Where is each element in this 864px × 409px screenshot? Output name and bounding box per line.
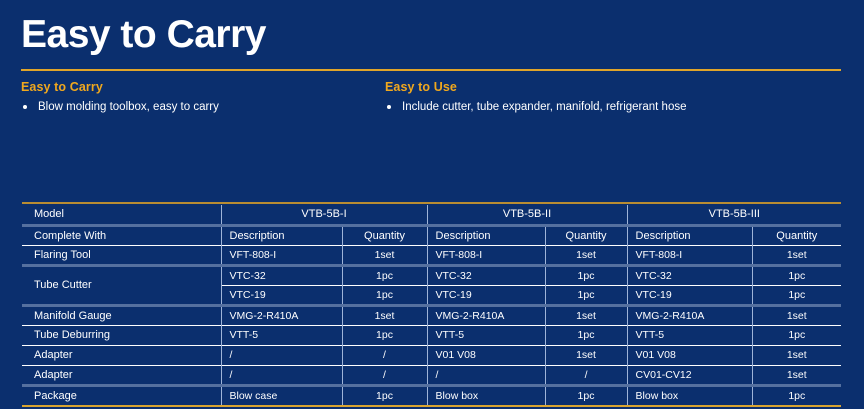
feature-heading-2: Easy to Use — [385, 80, 730, 94]
table-row: Tube Deburring VTT-5 1pc VTT-5 1pc VTT-5… — [22, 325, 841, 345]
feature-item: Blow molding toolbox, easy to carry — [21, 100, 366, 115]
feature-columns: Easy to Carry Blow molding toolbox, easy… — [21, 80, 841, 115]
row-cell: 1set — [545, 245, 627, 265]
row-cell: 1set — [342, 305, 427, 325]
feature-list-2: Include cutter, tube expander, manifold,… — [385, 100, 730, 115]
table-row-subheader: Complete With Description Quantity Descr… — [22, 225, 841, 245]
slide-page: Easy to Carry Easy to Carry Blow molding… — [0, 0, 864, 409]
feature-item: Include cutter, tube expander, manifold,… — [385, 100, 730, 115]
row-cell: 1set — [752, 245, 841, 265]
row-cell: 1set — [545, 345, 627, 365]
spec-table-wrapper: Model VTB-5B-I VTB-5B-II VTB-5B-III Comp… — [22, 205, 841, 405]
row-label: Adapter — [22, 345, 221, 365]
feature-list-1: Blow molding toolbox, easy to carry — [21, 100, 366, 115]
row-cell: / — [427, 365, 545, 385]
row-cell: 1pc — [545, 265, 627, 285]
table-top-rule — [22, 202, 841, 204]
row-cell: 1pc — [342, 265, 427, 285]
row-cell: VMG-2-R410A — [627, 305, 752, 325]
cell-subheader-description-1: Description — [221, 225, 342, 245]
row-label: Adapter — [22, 365, 221, 385]
cell-model-1: VTB-5B-I — [221, 205, 427, 225]
table-bottom-rule — [22, 405, 841, 407]
row-cell: 1pc — [342, 325, 427, 345]
feature-column-1: Easy to Carry Blow molding toolbox, easy… — [21, 80, 366, 115]
row-cell: VTC-32 — [627, 265, 752, 285]
row-cell: 1pc — [752, 285, 841, 305]
table-row: Flaring Tool VFT-808-I 1set VFT-808-I 1s… — [22, 245, 841, 265]
row-cell: VTC-19 — [627, 285, 752, 305]
feature-heading-1: Easy to Carry — [21, 80, 366, 94]
cell-model-label: Model — [22, 205, 221, 225]
row-label: Tube Deburring — [22, 325, 221, 345]
table-row: Adapter / / / / CV01-CV12 1set — [22, 365, 841, 385]
table-row: Tube Cutter VTC-32 1pc VTC-32 1pc VTC-32… — [22, 265, 841, 285]
row-cell: VFT-808-I — [221, 245, 342, 265]
table-row: Manifold Gauge VMG-2-R410A 1set VMG-2-R4… — [22, 305, 841, 325]
feature-column-2: Easy to Use Include cutter, tube expande… — [385, 80, 730, 115]
row-cell: VTT-5 — [627, 325, 752, 345]
row-cell: 1set — [752, 365, 841, 385]
row-cell: 1pc — [752, 385, 841, 405]
cell-subheader-quantity-2: Quantity — [545, 225, 627, 245]
row-cell: V01 V08 — [427, 345, 545, 365]
cell-subheader-description-3: Description — [627, 225, 752, 245]
row-cell: 1set — [545, 305, 627, 325]
row-cell: CV01-CV12 — [627, 365, 752, 385]
table-row: Package Blow case 1pc Blow box 1pc Blow … — [22, 385, 841, 405]
row-cell: Blow case — [221, 385, 342, 405]
row-cell: 1pc — [752, 265, 841, 285]
row-cell: / — [545, 365, 627, 385]
title-divider — [21, 69, 841, 71]
spec-table: Model VTB-5B-I VTB-5B-II VTB-5B-III Comp… — [22, 205, 841, 405]
row-cell: 1pc — [342, 285, 427, 305]
row-cell: / — [342, 365, 427, 385]
row-cell: VTC-32 — [221, 265, 342, 285]
row-cell: 1set — [752, 305, 841, 325]
row-cell: V01 V08 — [627, 345, 752, 365]
row-label: Tube Cutter — [22, 265, 221, 305]
row-cell: 1set — [342, 245, 427, 265]
row-cell: 1pc — [752, 325, 841, 345]
row-cell: Blow box — [427, 385, 545, 405]
cell-complete-with-label: Complete With — [22, 225, 221, 245]
row-cell: Blow box — [627, 385, 752, 405]
row-cell: / — [221, 365, 342, 385]
row-cell: 1pc — [342, 385, 427, 405]
row-cell: VTC-19 — [221, 285, 342, 305]
row-label: Flaring Tool — [22, 245, 221, 265]
row-cell: 1set — [752, 345, 841, 365]
row-cell: VMG-2-R410A — [427, 305, 545, 325]
row-cell: VFT-808-I — [427, 245, 545, 265]
row-cell: 1pc — [545, 325, 627, 345]
row-label: Package — [22, 385, 221, 405]
row-cell: VTC-19 — [427, 285, 545, 305]
row-cell: VTC-32 — [427, 265, 545, 285]
row-cell: VTT-5 — [427, 325, 545, 345]
row-cell: VTT-5 — [221, 325, 342, 345]
row-cell: VMG-2-R410A — [221, 305, 342, 325]
row-label: Manifold Gauge — [22, 305, 221, 325]
row-cell: 1pc — [545, 385, 627, 405]
row-cell: / — [221, 345, 342, 365]
row-cell: 1pc — [545, 285, 627, 305]
cell-model-2: VTB-5B-II — [427, 205, 627, 225]
cell-subheader-quantity-3: Quantity — [752, 225, 841, 245]
row-cell: VFT-808-I — [627, 245, 752, 265]
cell-subheader-description-2: Description — [427, 225, 545, 245]
cell-subheader-quantity-1: Quantity — [342, 225, 427, 245]
cell-model-3: VTB-5B-III — [627, 205, 841, 225]
table-row-model: Model VTB-5B-I VTB-5B-II VTB-5B-III — [22, 205, 841, 225]
row-cell: / — [342, 345, 427, 365]
table-row: Adapter / / V01 V08 1set V01 V08 1set — [22, 345, 841, 365]
page-title: Easy to Carry — [21, 13, 266, 58]
